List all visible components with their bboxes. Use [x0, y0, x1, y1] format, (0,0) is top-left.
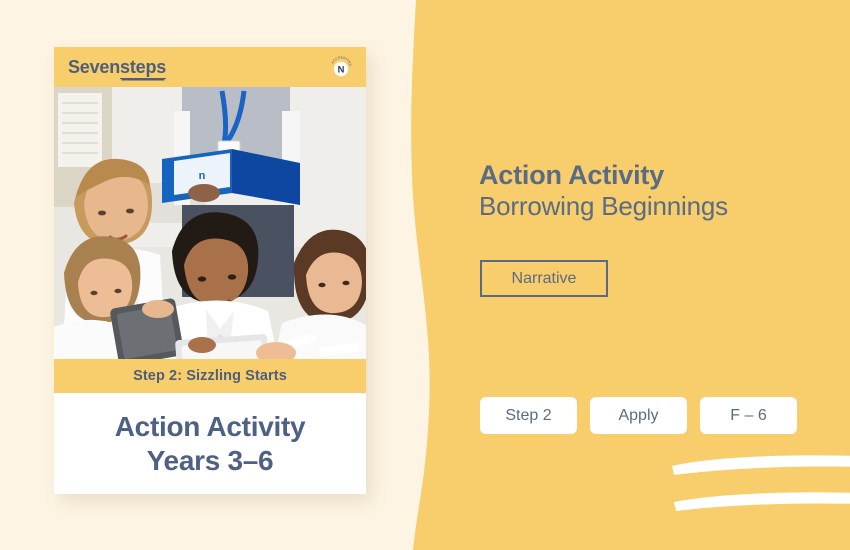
card-title-line-two: Years 3–6	[147, 444, 274, 477]
classroom-photo: n	[54, 87, 366, 359]
sevensteps-logo: Sevensteps	[68, 57, 166, 78]
card-step-label: Step 2: Sizzling Starts	[133, 368, 287, 384]
slide-canvas: Sevensteps ACCREDITED N	[0, 0, 850, 550]
card-header: Sevensteps ACCREDITED N	[54, 47, 366, 87]
product-cover-card[interactable]: Sevensteps ACCREDITED N	[54, 47, 366, 494]
brand-word-two: steps	[120, 57, 166, 79]
meta-pill-group: Step 2 Apply F – 6	[480, 397, 797, 434]
svg-text:N: N	[338, 64, 345, 75]
accreditation-badge-icon: ACCREDITED N	[328, 54, 354, 80]
heading-title: Action Activity	[479, 160, 839, 191]
card-step-band: Step 2: Sizzling Starts	[54, 359, 366, 393]
brand-word-one: Seven	[68, 57, 120, 77]
card-title-block: Action Activity Years 3–6	[54, 393, 366, 494]
meta-pill-year-range[interactable]: F – 6	[700, 397, 797, 434]
heading-subtitle: Borrowing Beginnings	[479, 191, 839, 221]
meta-pill-strand[interactable]: Apply	[590, 397, 687, 434]
genre-tag-label: Narrative	[512, 270, 577, 288]
page-title: Action Activity Borrowing Beginnings	[479, 160, 839, 221]
detail-panel: Action Activity Borrowing Beginnings Nar…	[479, 0, 850, 550]
svg-text:n: n	[199, 170, 206, 182]
meta-pill-step[interactable]: Step 2	[480, 397, 577, 434]
card-title-line-one: Action Activity	[115, 410, 306, 443]
genre-tag-narrative[interactable]: Narrative	[480, 260, 608, 297]
